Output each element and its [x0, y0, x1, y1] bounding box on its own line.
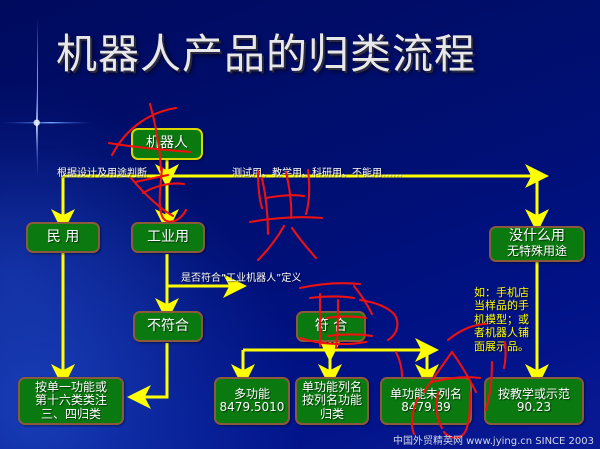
- node-single-function-or-cat16[interactable]: 按单一功能或 第十六类类注 三、四归类: [18, 377, 124, 425]
- node-single-function-listed-line3: 归类: [320, 408, 344, 421]
- node-civil-use[interactable]: 民 用: [26, 222, 100, 253]
- edge-label-by-design-use: 根据设计及用途判断: [57, 164, 147, 179]
- node-industrial-use-label: 工业用: [147, 230, 189, 246]
- node-single-function-unlisted-line1: 单功能未列名: [390, 388, 462, 401]
- slide-canvas: 机器人产品的归类流程: [0, 0, 600, 449]
- node-industrial-use[interactable]: 工业用: [131, 222, 205, 253]
- node-not-conforming-label: 不符合: [147, 319, 189, 335]
- node-civil-use-label: 民 用: [47, 230, 79, 246]
- node-no-special-use-sublabel: 无特殊用途: [507, 245, 567, 258]
- node-single-function-or-cat16-line2: 第十六类类注: [35, 394, 107, 407]
- node-multifunction-line2: 8479.5010: [220, 401, 285, 414]
- node-conforming-label: 符 合: [315, 319, 347, 335]
- node-teaching-demo[interactable]: 按教学或示范 90.23: [484, 377, 584, 425]
- node-teaching-demo-line1: 按教学或示范: [498, 388, 570, 401]
- node-root-label: 机器人: [146, 136, 188, 152]
- node-multifunction[interactable]: 多功能 8479.5010: [214, 377, 290, 425]
- node-no-special-use-label: 没什么用: [509, 229, 565, 245]
- node-single-function-unlisted[interactable]: 单功能未列名 8479.89: [380, 377, 472, 425]
- node-teaching-demo-line2: 90.23: [517, 401, 551, 414]
- node-single-function-or-cat16-line3: 三、四归类: [41, 408, 101, 421]
- node-not-conforming[interactable]: 不符合: [133, 311, 203, 342]
- edge-label-industrial-robot-definition: 是否符合“工业机器人”定义: [181, 269, 301, 284]
- footer-watermark: 中国外贸精英网 www.jying.cn SINCE 2003: [393, 432, 594, 447]
- node-conforming[interactable]: 符 合: [296, 311, 366, 342]
- node-single-function-listed-line2: 按列名功能: [302, 394, 362, 407]
- node-single-function-unlisted-line2: 8479.89: [401, 401, 451, 414]
- side-note-example: 如：手机店当样品的手机模型；或者机器人铺面展示品。: [474, 286, 530, 353]
- node-root[interactable]: 机器人: [131, 128, 203, 160]
- edge-label-test-teach-research: 测试用、教学用、科研用、不能用……: [232, 164, 402, 179]
- node-no-special-use[interactable]: 没什么用 无特殊用途: [489, 226, 585, 262]
- node-single-function-listed[interactable]: 单功能列名 按列名功能 归类: [295, 377, 369, 425]
- node-multifunction-line1: 多功能: [234, 388, 270, 401]
